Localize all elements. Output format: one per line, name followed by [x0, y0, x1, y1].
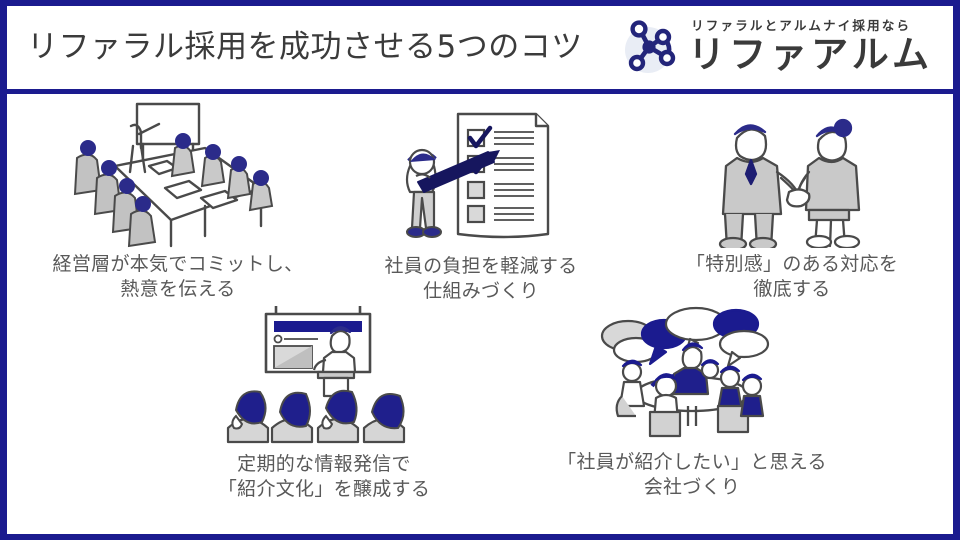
slide-body: 経営層が本気でコミットし、 熱意を伝える: [7, 94, 953, 534]
page-title: リファラル採用を成功させる5つのコツ: [27, 32, 583, 63]
handshake-illustration: [632, 96, 952, 248]
tip-card-3: 「特別感」のある対応を 徹底する: [632, 96, 952, 302]
logo-text-block: リファラルとアルムナイ採用なら リファアルム: [688, 20, 933, 75]
presentation-seminar-illustration: [159, 302, 489, 448]
tip-caption-3: 「特別感」のある対応を 徹底する: [632, 252, 952, 302]
logo-tagline: リファラルとアルムナイ採用なら: [691, 20, 911, 33]
tip-card-1: 経営層が本気でコミットし、 熱意を伝える: [13, 96, 343, 302]
checklist-with-pen-illustration: [340, 100, 622, 250]
tip-card-5: 「社員が紹介したい」と思える 会社づくり: [527, 306, 857, 500]
tip-caption-1: 経営層が本気でコミットし、 熱意を伝える: [13, 252, 343, 302]
network-nodes-glyph: [622, 19, 680, 77]
slide-header: リファラル採用を成功させる5つのコツ: [7, 6, 953, 94]
tip-caption-4: 定期的な情報発信で 「紹介文化」を醸成する: [159, 452, 489, 502]
meeting-table-illustration: [13, 96, 343, 248]
network-nodes-icon: [622, 19, 680, 77]
group-discussion-illustration: [527, 306, 857, 446]
slide-frame: リファラル採用を成功させる5つのコツ: [0, 0, 960, 540]
tip-card-4: 定期的な情報発信で 「紹介文化」を醸成する: [159, 302, 489, 502]
tip-caption-2: 社員の負担を軽減する 仕組みづくり: [340, 254, 622, 304]
brand-logo: リファラルとアルムナイ採用なら リファアルム: [622, 19, 939, 77]
tip-card-2: 社員の負担を軽減する 仕組みづくり: [340, 100, 622, 304]
logo-wordmark: リファアルム: [688, 36, 933, 75]
tip-caption-5: 「社員が紹介したい」と思える 会社づくり: [527, 450, 857, 500]
